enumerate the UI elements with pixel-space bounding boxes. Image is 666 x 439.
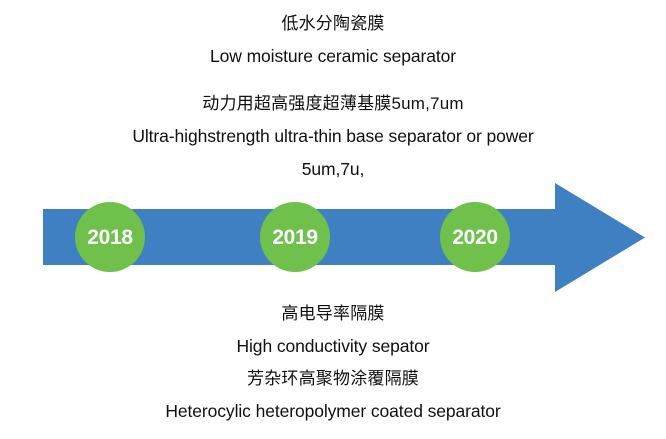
top-annotation-line-cn: 低水分陶瓷膜: [0, 8, 666, 40]
timeline-milestone-2018[interactable]: 2018: [75, 202, 145, 272]
top-annotation-block: 低水分陶瓷膜 Low moisture ceramic separator: [0, 8, 666, 73]
lower-annotation-line2-cn: 芳杂环高聚物涂覆隔膜: [0, 363, 666, 395]
timeline-milestone-2019[interactable]: 2019: [260, 202, 330, 272]
middle-annotation-line-cn: 动力用超高强度超薄基膜5um,7um: [0, 88, 666, 120]
timeline-milestone-2020[interactable]: 2020: [440, 202, 510, 272]
middle-annotation-line-en: Ultra-highstrength ultra-thin base separ…: [0, 120, 666, 153]
milestone-label-2020: 2020: [452, 227, 498, 248]
lower-annotation-line2-en: Heterocylic heteropolymer coated separat…: [0, 395, 666, 428]
timeline-slide: 低水分陶瓷膜 Low moisture ceramic separator 动力…: [0, 0, 666, 439]
middle-annotation-block: 动力用超高强度超薄基膜5um,7um Ultra-highstrength ul…: [0, 88, 666, 186]
top-annotation-line-en: Low moisture ceramic separator: [0, 40, 666, 73]
lower-annotation-line1-cn: 高电导率隔膜: [0, 298, 666, 330]
milestone-label-2018: 2018: [87, 227, 133, 248]
lower-annotation-block: 高电导率隔膜 High conductivity sepator 芳杂环高聚物涂…: [0, 298, 666, 428]
milestone-label-2019: 2019: [272, 227, 318, 248]
middle-annotation-line-spec: 5um,7u,: [0, 153, 666, 186]
lower-annotation-line1-en: High conductivity sepator: [0, 330, 666, 363]
